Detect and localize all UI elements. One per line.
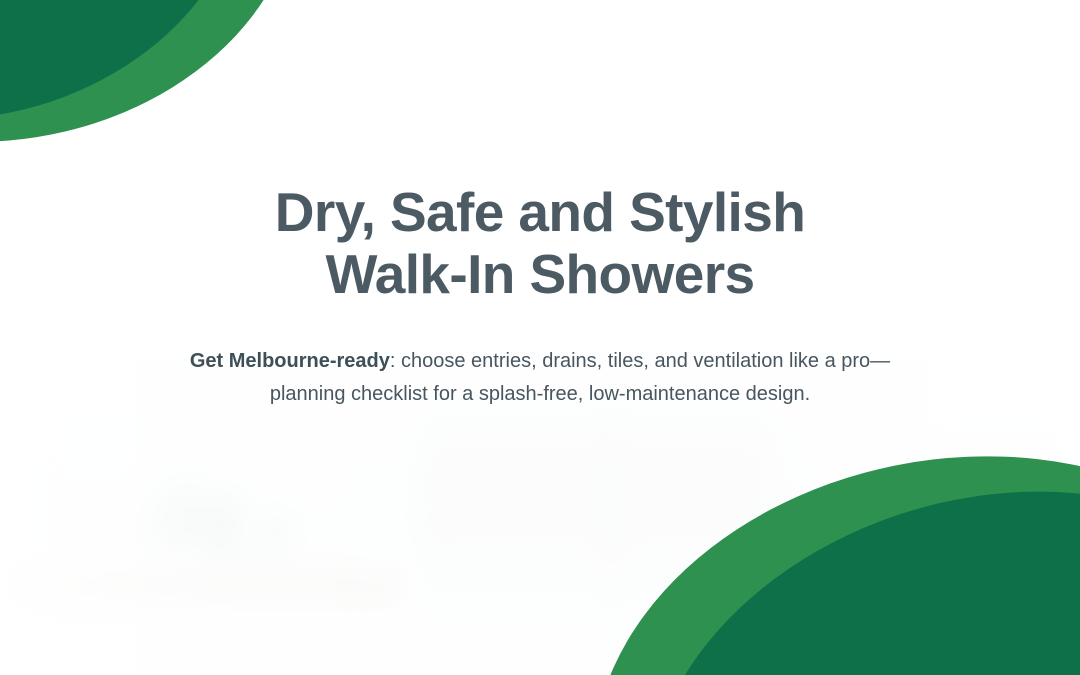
- headline-line-2: Walk-In Showers: [275, 244, 805, 306]
- page-title: Dry, Safe and Stylish Walk-In Showers: [275, 182, 805, 305]
- subheadline: Get Melbourne-ready: choose entries, dra…: [170, 345, 910, 410]
- hero-banner: Dry, Safe and Stylish Walk-In Showers Ge…: [0, 0, 1080, 675]
- subheadline-lead: Get Melbourne-ready: [190, 350, 390, 372]
- headline-line-1: Dry, Safe and Stylish: [275, 182, 805, 244]
- hero-content: Dry, Safe and Stylish Walk-In Showers Ge…: [0, 0, 1080, 675]
